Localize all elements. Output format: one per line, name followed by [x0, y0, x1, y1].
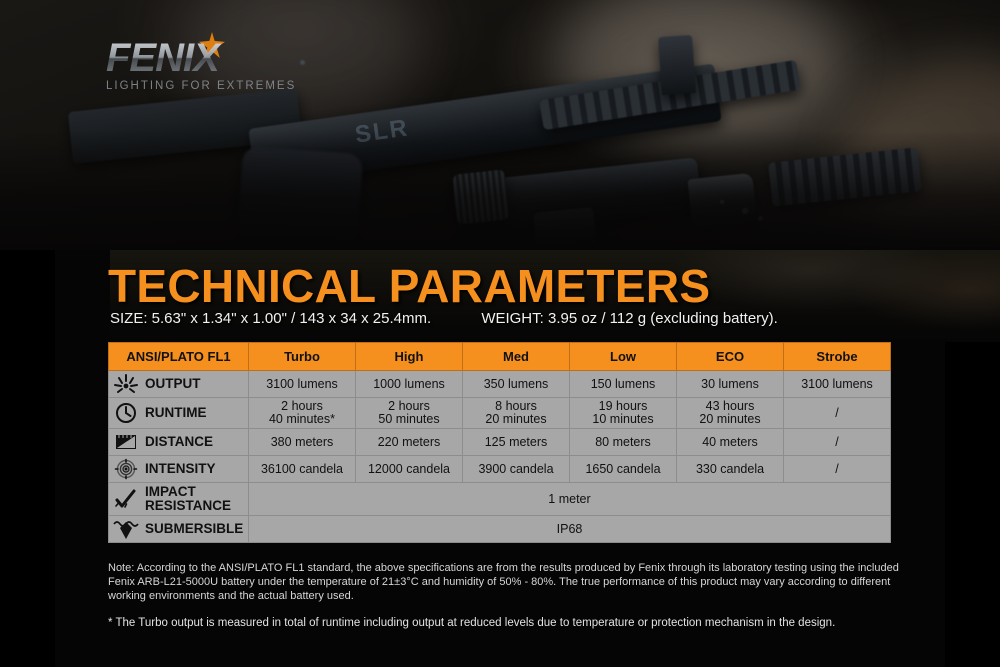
cell-runtime-turbo: 2 hours40 minutes*	[249, 398, 356, 429]
cell-intensity-med: 3900 candela	[463, 456, 570, 483]
rifle-flip-sight	[658, 35, 696, 95]
cell-intensity-low: 1650 candela	[570, 456, 677, 483]
content-inner: TECHNICAL PARAMETERS SIZE: 5.63" x 1.34"…	[55, 250, 945, 667]
note-ansi-standard: Note: According to the ANSI/PLATO FL1 st…	[108, 561, 908, 603]
table-row: INTENSITY 36100 candela 12000 candela 39…	[109, 456, 891, 483]
column-header-eco: ECO	[677, 343, 784, 371]
hero-photo: SLR FENIX LIGHTING FOR EXTREMES	[0, 0, 1000, 250]
cell-output-eco: 30 lumens	[677, 371, 784, 398]
cell-distance-med: 125 meters	[463, 429, 570, 456]
column-header-low: Low	[570, 343, 677, 371]
row-label-impact-resistance: IMPACTRESISTANCE	[109, 483, 249, 516]
column-header-ansi: ANSI/PLATO FL1	[109, 343, 249, 371]
product-spec-sheet: SLR FENIX LIGHTING FOR EXTREMES TECHNICA…	[0, 0, 1000, 667]
logo-tagline: LIGHTING FOR EXTREMES	[106, 80, 296, 92]
table-row: OUTPUT 3100 lumens 1000 lumens 350 lumen…	[109, 371, 891, 398]
page-title: TECHNICAL PARAMETERS	[108, 259, 710, 313]
impact-label-line2: RESISTANCE	[145, 498, 231, 513]
sunburst-icon	[113, 373, 139, 395]
cell-submersible-value: IP68	[249, 516, 891, 543]
size-text: SIZE: 5.63" x 1.34" x 1.00" / 143 x 34 x…	[110, 310, 431, 327]
table-row: IMPACTRESISTANCE 1 meter	[109, 483, 891, 516]
cell-output-strobe: 3100 lumens	[784, 371, 891, 398]
cell-distance-eco: 40 meters	[677, 429, 784, 456]
note-turbo-asterisk: * The Turbo output is measured in total …	[108, 616, 908, 631]
checkmark-impact-icon	[113, 488, 139, 510]
impact-label-line1: IMPACT	[145, 484, 196, 499]
specifications-table: ANSI/PLATO FL1 Turbo High Med Low ECO St…	[108, 342, 891, 543]
table-row: DISTANCE 380 meters 220 meters 125 meter…	[109, 429, 891, 456]
row-label-runtime: RUNTIME	[109, 398, 249, 429]
cell-intensity-high: 12000 candela	[356, 456, 463, 483]
cell-runtime-low: 19 hours10 minutes	[570, 398, 677, 429]
column-header-med: Med	[463, 343, 570, 371]
row-label-submersible: SUBMERSIBLE	[109, 516, 249, 543]
cell-runtime-med: 8 hours20 minutes	[463, 398, 570, 429]
photo-fade-overlay	[0, 130, 1000, 250]
weight-text: WEIGHT: 3.95 oz / 112 g (excluding batte…	[481, 310, 778, 327]
column-header-high: High	[356, 343, 463, 371]
row-label-text: OUTPUT	[145, 377, 201, 391]
row-label-text: INTENSITY	[145, 462, 216, 476]
row-label-intensity: INTENSITY	[109, 456, 249, 483]
row-label-text: RUNTIME	[145, 406, 207, 420]
logo-wordmark: FENIX	[106, 38, 296, 78]
row-label-distance: DISTANCE	[109, 429, 249, 456]
cell-output-med: 350 lumens	[463, 371, 570, 398]
beam-distance-icon	[113, 431, 139, 453]
cell-distance-strobe: /	[784, 429, 891, 456]
cell-output-low: 150 lumens	[570, 371, 677, 398]
cell-runtime-high: 2 hours50 minutes	[356, 398, 463, 429]
table-row: RUNTIME 2 hours40 minutes* 2 hours50 min…	[109, 398, 891, 429]
cell-output-high: 1000 lumens	[356, 371, 463, 398]
clock-icon	[113, 402, 139, 424]
row-label-output: OUTPUT	[109, 371, 249, 398]
column-header-strobe: Strobe	[784, 343, 891, 371]
row-label-text: DISTANCE	[145, 435, 213, 449]
row-label-text: SUBMERSIBLE	[145, 522, 243, 536]
cell-impact-resistance-value: 1 meter	[249, 483, 891, 516]
cell-runtime-eco: 43 hours20 minutes	[677, 398, 784, 429]
table-row: SUBMERSIBLE IP68	[109, 516, 891, 543]
fenix-logo: FENIX LIGHTING FOR EXTREMES	[106, 38, 296, 92]
row-label-text: IMPACTRESISTANCE	[145, 485, 231, 513]
spark-dot	[300, 60, 305, 65]
cell-intensity-eco: 330 candela	[677, 456, 784, 483]
cell-intensity-turbo: 36100 candela	[249, 456, 356, 483]
table-header-row: ANSI/PLATO FL1 Turbo High Med Low ECO St…	[109, 343, 891, 371]
cell-distance-high: 220 meters	[356, 429, 463, 456]
content-pane: TECHNICAL PARAMETERS SIZE: 5.63" x 1.34"…	[0, 250, 1000, 667]
cell-runtime-strobe: /	[784, 398, 891, 429]
cell-intensity-strobe: /	[784, 456, 891, 483]
cell-output-turbo: 3100 lumens	[249, 371, 356, 398]
footnotes: Note: According to the ANSI/PLATO FL1 st…	[108, 561, 908, 631]
dimension-summary: SIZE: 5.63" x 1.34" x 1.00" / 143 x 34 x…	[110, 310, 940, 327]
column-header-turbo: Turbo	[249, 343, 356, 371]
target-icon	[113, 458, 139, 480]
cell-distance-turbo: 380 meters	[249, 429, 356, 456]
water-drop-icon	[113, 518, 139, 540]
cell-distance-low: 80 meters	[570, 429, 677, 456]
